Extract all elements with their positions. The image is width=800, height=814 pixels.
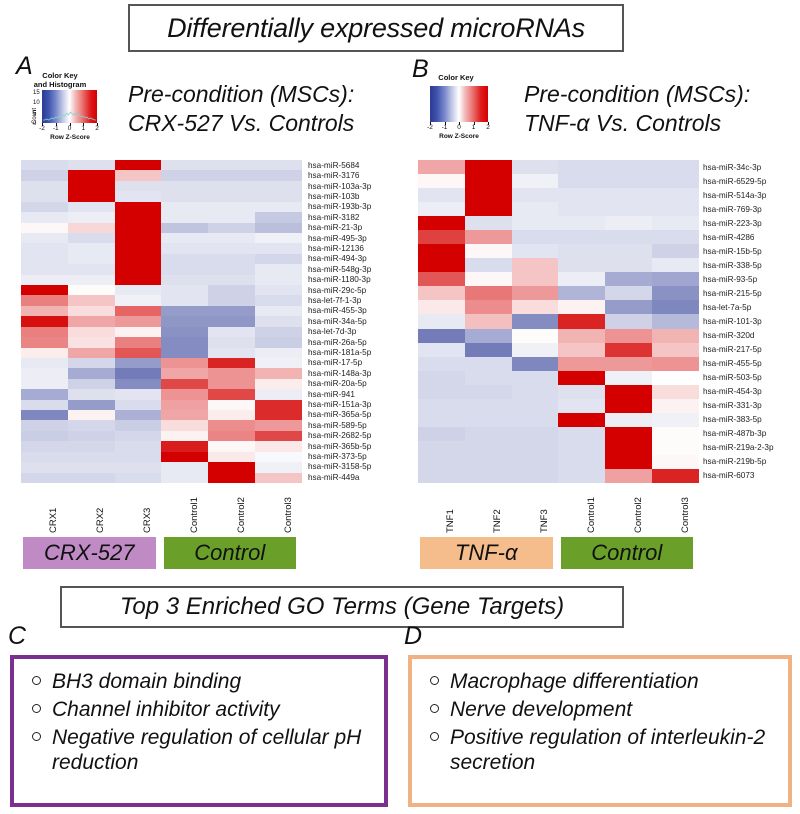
heatmap-cell [465, 329, 512, 343]
heatmap-row-label: hsa-miR-769-3p [703, 202, 799, 216]
heatmap-cell [418, 244, 465, 258]
heatmap-row-label: hsa-miR-454-3p [703, 385, 799, 399]
heatmap-cell [68, 348, 115, 358]
heatmap-cell [255, 181, 302, 191]
heatmap-cell [21, 233, 68, 243]
heatmap-cell [115, 473, 162, 483]
heatmap-a-column-labels: CRX1CRX2CRX3Control1Control2Control3 [21, 487, 302, 535]
heatmap-cell [605, 469, 652, 483]
heatmap-cell [21, 348, 68, 358]
heatmap-cell [115, 233, 162, 243]
heatmap-cell [68, 379, 115, 389]
heatmap-cell [418, 371, 465, 385]
heatmap-row-label: hsa-miR-3182 [308, 212, 408, 222]
heatmap-row-label: hsa-miR-6073 [703, 469, 799, 483]
heatmap-cell [161, 212, 208, 222]
heatmap-cell [68, 181, 115, 191]
go-term-text: Channel inhibitor activity [52, 697, 280, 722]
heatmap-cell [652, 329, 699, 343]
heatmap-cell [208, 160, 255, 170]
heatmap-row-label: hsa-miR-217-5p [703, 342, 799, 356]
heatmap-cell [558, 441, 605, 455]
heatmap-cell [161, 368, 208, 378]
color-key-tick-label: -1 [53, 125, 59, 132]
heatmap-row-label: hsa-miR-2682-5p [308, 431, 408, 441]
heatmap-row-label: hsa-miR-514a-3p [703, 188, 799, 202]
heatmap-cell [512, 427, 559, 441]
heatmap-cell [605, 258, 652, 272]
heatmap-cell [558, 258, 605, 272]
heatmap-cell [21, 181, 68, 191]
heatmap-cell [605, 216, 652, 230]
heatmap-cell [605, 427, 652, 441]
heatmap-row-label: hsa-miR-34a-5p [308, 316, 408, 326]
heatmap-cell [115, 170, 162, 180]
heatmap-row-label: hsa-miR-365a-5p [308, 410, 408, 420]
heatmap-cell [652, 272, 699, 286]
heatmap-cell [68, 473, 115, 483]
heatmap-cell [115, 316, 162, 326]
heatmap-row-label: hsa-miR-12136 [308, 243, 408, 253]
panel-letter-d: D [404, 622, 422, 651]
heatmap-cell [68, 191, 115, 201]
heatmap-cell [208, 358, 255, 368]
heatmap-row-label: hsa-miR-5684 [308, 160, 408, 170]
heatmap-cell [418, 230, 465, 244]
heatmap-cell [255, 191, 302, 201]
heatmap-cell [465, 385, 512, 399]
heatmap-cell [68, 410, 115, 420]
heatmap-cell [418, 314, 465, 328]
color-key-tick-label: 2 [486, 124, 490, 131]
heatmap-cell [652, 399, 699, 413]
heatmap-cell [418, 272, 465, 286]
heatmap-cell [21, 264, 68, 274]
go-term-text: Nerve development [450, 697, 632, 722]
heatmap-column-label: Control2 [633, 497, 644, 533]
bullet-icon [32, 732, 41, 741]
heatmap-cell [255, 462, 302, 472]
heatmap-cell [605, 329, 652, 343]
heatmap-cell [21, 462, 68, 472]
heatmap-cell [161, 410, 208, 420]
heatmap-row-label: hsa-miR-17-5p [308, 358, 408, 368]
heatmap-cell [418, 343, 465, 357]
heatmap-cell [115, 191, 162, 201]
heatmap-cell [161, 327, 208, 337]
color-key-a: Color Key and Histogram Count 051015 -2-… [20, 72, 100, 144]
go-panel-d: Macrophage differentiationNerve developm… [408, 655, 792, 807]
go-section-title-text: Top 3 Enriched GO Terms (Gene Targets) [120, 593, 564, 621]
heatmap-cell [21, 400, 68, 410]
heatmap-cell [21, 420, 68, 430]
heatmap-column-label: Control1 [189, 497, 200, 533]
heatmap-cell [208, 264, 255, 274]
heatmap-cell [115, 389, 162, 399]
heatmap-cell [255, 170, 302, 180]
group-bar-crx-527: CRX-527 [23, 537, 156, 569]
heatmap-cell [512, 230, 559, 244]
heatmap-cell [255, 410, 302, 420]
heatmap-cell [558, 371, 605, 385]
heatmap-cell [465, 413, 512, 427]
heatmap-b-column-labels: TNF1TNF2TNF3Control1Control2Control3 [418, 487, 699, 535]
heatmap-row-label: hsa-miR-181a-5p [308, 347, 408, 357]
heatmap-cell [605, 371, 652, 385]
heatmap-row-label: hsa-miR-6529-5p [703, 174, 799, 188]
heatmap-column-label: TNF2 [492, 509, 503, 533]
heatmap-cell [68, 233, 115, 243]
heatmap-cell [418, 413, 465, 427]
heatmap-cell [115, 452, 162, 462]
heatmap-cell [68, 358, 115, 368]
heatmap-cell [512, 244, 559, 258]
heatmap-cell [255, 327, 302, 337]
heatmap-cell [115, 420, 162, 430]
heatmap-row-label: hsa-miR-3176 [308, 170, 408, 180]
heatmap-cell [208, 400, 255, 410]
heatmap-cell [255, 160, 302, 170]
heatmap-row-label: hsa-miR-148a-3p [308, 368, 408, 378]
go-term-item: Channel inhibitor activity [24, 697, 378, 722]
heatmap-cell [161, 337, 208, 347]
main-title-box: Differentially expressed microRNAs [128, 4, 624, 52]
color-key-tick-label: 0 [457, 124, 461, 131]
heatmap-cell [605, 160, 652, 174]
heatmap-cell [465, 188, 512, 202]
heatmap-cell [161, 431, 208, 441]
heatmap-cell [208, 452, 255, 462]
heatmap-cell [605, 244, 652, 258]
bullet-icon [430, 676, 439, 685]
heatmap-cell [68, 264, 115, 274]
bullet-icon [32, 676, 41, 685]
main-title-text: Differentially expressed microRNAs [167, 13, 585, 44]
heatmap-cell [208, 368, 255, 378]
heatmap-cell [418, 441, 465, 455]
heatmap-row-label: hsa-miR-331-3p [703, 399, 799, 413]
heatmap-cell [512, 357, 559, 371]
heatmap-cell [652, 160, 699, 174]
go-term-text: Macrophage differentiation [450, 669, 699, 694]
heatmap-cell [161, 202, 208, 212]
heatmap-cell [255, 473, 302, 483]
heatmap-cell [418, 399, 465, 413]
heatmap-cell [161, 233, 208, 243]
heatmap-cell [605, 314, 652, 328]
heatmap-cell [161, 191, 208, 201]
color-key-a-histogram [42, 90, 97, 123]
heatmap-cell [255, 379, 302, 389]
heatmap-column-label: Control3 [680, 497, 691, 533]
color-key-b-gradient [430, 86, 488, 122]
heatmap-column-label: TNF1 [445, 509, 456, 533]
heatmap-b[interactable] [418, 160, 699, 483]
heatmap-cell [21, 431, 68, 441]
color-key-tick-label: -2 [39, 125, 45, 132]
go-term-text: Negative regulation of cellular pH reduc… [52, 725, 378, 775]
heatmap-cell [115, 462, 162, 472]
heatmap-row-label: hsa-miR-494-3p [308, 254, 408, 264]
heatmap-cell [465, 314, 512, 328]
heatmap-cell [255, 452, 302, 462]
heatmap-cell [605, 272, 652, 286]
heatmap-cell [115, 379, 162, 389]
heatmap-row-label: hsa-miR-4286 [703, 230, 799, 244]
heatmap-cell [418, 300, 465, 314]
heatmap-row-label: hsa-let-7f-1-3p [308, 295, 408, 305]
heatmap-cell [512, 399, 559, 413]
heatmap-cell [512, 216, 559, 230]
heatmap-cell [418, 455, 465, 469]
heatmap-row-label: hsa-miR-495-3p [308, 233, 408, 243]
heatmap-column-label: CRX3 [142, 508, 153, 533]
heatmap-cell [605, 413, 652, 427]
heatmap-row-label: hsa-miR-20a-5p [308, 379, 408, 389]
color-key-tick-label: -1 [442, 124, 448, 131]
heatmap-row-label: hsa-miR-589-5p [308, 420, 408, 430]
heatmap-cell [68, 212, 115, 222]
heatmap-cell [652, 427, 699, 441]
color-key-b-axis-label: Row Z-Score [419, 133, 499, 140]
color-key-a-axis: -2-1012 [42, 123, 97, 134]
heatmap-cell [558, 357, 605, 371]
heatmap-cell [652, 216, 699, 230]
heatmap-cell [418, 258, 465, 272]
heatmap-cell [605, 174, 652, 188]
heatmap-cell [558, 455, 605, 469]
panel-a-title: Pre-condition (MSCs): CRX-527 Vs. Contro… [128, 80, 354, 138]
heatmap-cell [208, 348, 255, 358]
heatmap-cell [115, 400, 162, 410]
heatmap-cell [208, 275, 255, 285]
heatmap-row-label: hsa-miR-503-5p [703, 370, 799, 384]
heatmap-cell [21, 285, 68, 295]
go-term-item: Positive regulation of interleukin-2 sec… [422, 725, 782, 775]
heatmap-cell [161, 400, 208, 410]
heatmap-cell [21, 191, 68, 201]
heatmap-cell [255, 316, 302, 326]
heatmap-cell [161, 358, 208, 368]
heatmap-cell [68, 170, 115, 180]
group-bar-control: Control [561, 537, 694, 569]
heatmap-cell [418, 202, 465, 216]
heatmap-cell [255, 400, 302, 410]
heatmap-cell [255, 202, 302, 212]
heatmap-cell [21, 327, 68, 337]
heatmap-cell [255, 389, 302, 399]
heatmap-cell [652, 300, 699, 314]
heatmap-column-label: CRX2 [95, 508, 106, 533]
heatmap-cell [652, 286, 699, 300]
heatmap-cell [161, 285, 208, 295]
heatmap-cell [68, 431, 115, 441]
heatmap-cell [558, 314, 605, 328]
heatmap-cell [255, 285, 302, 295]
heatmap-cell [21, 452, 68, 462]
heatmap-cell [255, 233, 302, 243]
heatmap-cell [21, 316, 68, 326]
heatmap-cell [465, 160, 512, 174]
go-term-item: Macrophage differentiation [422, 669, 782, 694]
color-key-tick-label: 1 [81, 125, 85, 132]
heatmap-cell [115, 202, 162, 212]
heatmap-cell [558, 413, 605, 427]
heatmap-cell [605, 300, 652, 314]
heatmap-cell [255, 223, 302, 233]
heatmap-cell [21, 337, 68, 347]
go-panel-c: BH3 domain bindingChannel inhibitor acti… [10, 655, 388, 807]
heatmap-cell [208, 191, 255, 201]
heatmap-cell [161, 379, 208, 389]
heatmap-cell [115, 410, 162, 420]
heatmap-cell [21, 379, 68, 389]
heatmap-row-label: hsa-miR-941 [308, 389, 408, 399]
heatmap-cell [512, 329, 559, 343]
heatmap-row-label: hsa-miR-223-3p [703, 216, 799, 230]
heatmap-cell [652, 413, 699, 427]
heatmap-cell [21, 358, 68, 368]
heatmap-cell [465, 174, 512, 188]
heatmap-cell [115, 431, 162, 441]
heatmap-cell [208, 473, 255, 483]
heatmap-cell [652, 357, 699, 371]
heatmap-cell [465, 216, 512, 230]
bullet-icon [430, 704, 439, 713]
heatmap-cell [161, 389, 208, 399]
heatmap-cell [558, 399, 605, 413]
heatmap-cell [208, 462, 255, 472]
heatmap-cell [558, 230, 605, 244]
heatmap-cell [255, 431, 302, 441]
heatmap-cell [418, 160, 465, 174]
heatmap-cell [115, 264, 162, 274]
heatmap-cell [465, 286, 512, 300]
panel-a-title-line2: CRX-527 Vs. Controls [128, 109, 354, 138]
heatmap-cell [161, 243, 208, 253]
heatmap-cell [68, 243, 115, 253]
heatmap-cell [161, 306, 208, 316]
heatmap-cell [652, 441, 699, 455]
panel-a-title-line1: Pre-condition (MSCs): [128, 80, 354, 109]
heatmap-cell [418, 216, 465, 230]
heatmap-cell [465, 469, 512, 483]
heatmap-cell [465, 244, 512, 258]
heatmap-cell [161, 316, 208, 326]
color-key-tick-label: 2 [95, 125, 99, 132]
heatmap-cell [115, 181, 162, 191]
heatmap-cell [652, 230, 699, 244]
heatmap-cell [208, 243, 255, 253]
heatmap-cell [208, 431, 255, 441]
heatmap-cell [512, 286, 559, 300]
heatmap-cell [68, 275, 115, 285]
heatmap-cell [652, 455, 699, 469]
heatmap-cell [21, 254, 68, 264]
heatmap-cell [558, 216, 605, 230]
heatmap-cell [21, 441, 68, 451]
heatmap-cell [161, 223, 208, 233]
heatmap-a-group-bars: CRX-527Control [21, 537, 302, 569]
heatmap-cell [161, 254, 208, 264]
heatmap-cell [208, 233, 255, 243]
heatmap-cell [418, 357, 465, 371]
heatmap-cell [418, 469, 465, 483]
heatmap-cell [115, 223, 162, 233]
heatmap-cell [558, 385, 605, 399]
heatmap-cell [68, 368, 115, 378]
heatmap-cell [418, 385, 465, 399]
heatmap-cell [605, 399, 652, 413]
heatmap-cell [605, 357, 652, 371]
heatmap-cell [208, 254, 255, 264]
heatmap-cell [605, 385, 652, 399]
heatmap-cell [208, 337, 255, 347]
heatmap-cell [115, 254, 162, 264]
heatmap-row-label: hsa-miR-151a-3p [308, 399, 408, 409]
heatmap-cell [68, 202, 115, 212]
heatmap-cell [652, 258, 699, 272]
heatmap-cell [605, 441, 652, 455]
heatmap-cell [208, 223, 255, 233]
heatmap-row-label: hsa-miR-93-5p [703, 272, 799, 286]
heatmap-cell [115, 212, 162, 222]
group-bar-control: Control [164, 537, 297, 569]
heatmap-cell [255, 212, 302, 222]
heatmap-cell [605, 188, 652, 202]
heatmap-cell [652, 188, 699, 202]
heatmap-cell [21, 295, 68, 305]
color-key-b-title: Color Key [416, 74, 496, 83]
heatmap-cell [465, 399, 512, 413]
heatmap-cell [161, 462, 208, 472]
heatmap-column-label: CRX1 [48, 508, 59, 533]
panel-b-title-line1: Pre-condition (MSCs): [524, 80, 750, 109]
heatmap-cell [115, 243, 162, 253]
heatmap-cell [208, 170, 255, 180]
heatmap-cell [21, 212, 68, 222]
heatmap-cell [115, 160, 162, 170]
heatmap-cell [558, 329, 605, 343]
heatmap-column-label: Control3 [283, 497, 294, 533]
heatmap-row-label: hsa-miR-34c-3p [703, 160, 799, 174]
panel-b-title-line2: TNF-α Vs. Controls [524, 109, 750, 138]
heatmap-a[interactable] [21, 160, 302, 483]
heatmap-cell [161, 275, 208, 285]
heatmap-cell [115, 348, 162, 358]
go-term-item: Negative regulation of cellular pH reduc… [24, 725, 378, 775]
heatmap-cell [512, 202, 559, 216]
heatmap-cell [161, 160, 208, 170]
go-term-item: BH3 domain binding [24, 669, 378, 694]
heatmap-cell [558, 427, 605, 441]
heatmap-cell [115, 275, 162, 285]
heatmap-cell [255, 348, 302, 358]
color-key-a-axis-label: Row Z-Score [30, 134, 110, 141]
heatmap-cell [255, 254, 302, 264]
heatmap-cell [558, 188, 605, 202]
heatmap-cell [465, 230, 512, 244]
heatmap-cell [558, 286, 605, 300]
heatmap-cell [652, 385, 699, 399]
heatmap-cell [208, 389, 255, 399]
heatmap-row-label: hsa-miR-1180-3p [308, 274, 408, 284]
heatmap-cell [208, 295, 255, 305]
heatmap-cell [208, 420, 255, 430]
heatmap-cell [68, 462, 115, 472]
heatmap-row-label: hsa-let-7a-5p [703, 300, 799, 314]
color-key-tick-label: -2 [427, 124, 433, 131]
